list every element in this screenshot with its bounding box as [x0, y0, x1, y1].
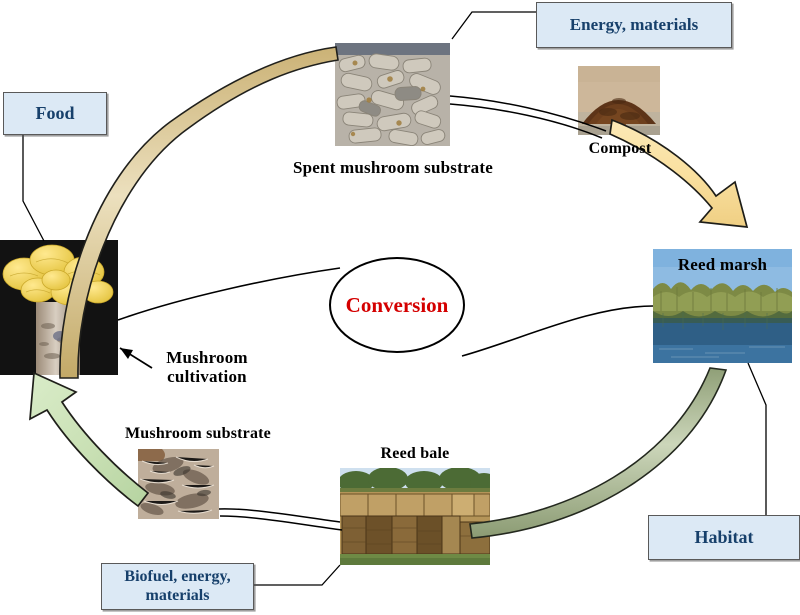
diagram-canvas: Conversion Food Energy, materials Habita… — [0, 0, 800, 615]
photo-mushroom-fruiting — [0, 240, 118, 375]
caption-mushroom-substrate: Mushroom substrate — [108, 425, 288, 443]
photo-compost — [578, 66, 660, 135]
caption-compost: Compost — [573, 140, 667, 158]
caption-mushroom-cultivation: Mushroom cultivation — [152, 348, 262, 386]
caption-reed-marsh: Reed marsh — [653, 255, 792, 274]
leader-habitat — [748, 363, 766, 515]
leader-biofuel — [252, 565, 340, 585]
box-biofuel-label: Biofuel, energy, materials — [124, 568, 230, 605]
conversion-label-wrap: Conversion — [330, 293, 464, 318]
box-food-label: Food — [35, 103, 74, 124]
flow-reed-bale-to-substrate — [219, 509, 342, 530]
box-habitat[interactable]: Habitat — [648, 515, 800, 560]
flow-reed-marsh-to-conversion — [462, 306, 653, 356]
pointer-mushroom-cultivation — [120, 348, 152, 368]
caption-spent-mushroom-substrate: Spent mushroom substrate — [282, 158, 504, 177]
box-energy-materials-label: Energy, materials — [570, 15, 698, 35]
leader-food — [23, 133, 44, 241]
flow-reed-bale-to-reed-marsh — [470, 368, 726, 538]
box-energy-materials[interactable]: Energy, materials — [536, 2, 732, 48]
photo-spent-mushroom-substrate — [335, 43, 450, 146]
photo-mushroom-substrate — [138, 449, 219, 519]
leader-energy-materials — [452, 12, 536, 39]
flow-conversion-to-mushroom — [118, 268, 340, 320]
caption-reed-bale: Reed bale — [355, 445, 475, 463]
box-biofuel[interactable]: Biofuel, energy, materials — [101, 563, 254, 610]
box-food[interactable]: Food — [3, 92, 107, 135]
photo-reed-bale — [340, 468, 490, 565]
box-habitat-label: Habitat — [694, 527, 753, 548]
conversion-label: Conversion — [330, 293, 464, 318]
flow-compost-to-reed-marsh — [610, 120, 747, 227]
